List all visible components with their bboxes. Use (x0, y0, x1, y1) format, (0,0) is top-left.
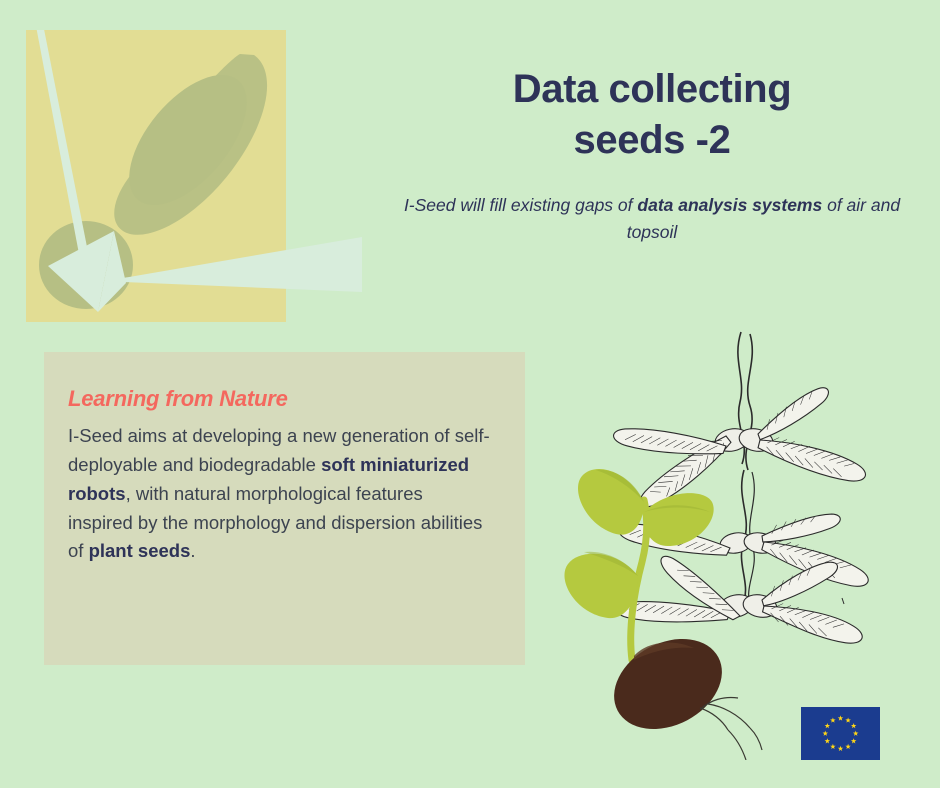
poster-canvas: Data collecting seeds -2 I-Seed will fil… (0, 0, 940, 788)
subtitle-emphasis: data analysis systems (637, 195, 822, 215)
panel-emphasis-seeds: plant seeds (89, 540, 191, 561)
abstract-seed-artwork (26, 30, 286, 322)
panel-title: Learning from Nature (68, 386, 491, 412)
european-union-flag (801, 707, 880, 760)
panel-content: Learning from Nature I-Seed aims at deve… (44, 352, 525, 566)
samara-cluster-icon (612, 332, 873, 650)
page-title-line-2: seeds -2 (574, 118, 731, 162)
panel-body-text: I-Seed aims at developing a new generati… (68, 422, 491, 566)
seed-icon (598, 621, 737, 747)
page-title-line-1: Data collecting (513, 67, 792, 111)
page-subtitle: I-Seed will fill existing gaps of data a… (387, 192, 917, 245)
sprout-and-samara-illustration (560, 330, 900, 750)
learning-from-nature-panel: Learning from Nature I-Seed aims at deve… (44, 352, 525, 665)
sprout-icon (564, 469, 713, 660)
roots-icon (700, 697, 762, 760)
panel-text-part-3: . (190, 540, 195, 561)
eu-stars-icon (801, 707, 880, 760)
sprout-samara-icon (560, 330, 900, 760)
page-title: Data collecting seeds -2 (382, 64, 922, 166)
subtitle-text-part-1: I-Seed will fill existing gaps of (404, 195, 637, 215)
headline-block: Data collecting seeds -2 I-Seed will fil… (382, 64, 922, 246)
